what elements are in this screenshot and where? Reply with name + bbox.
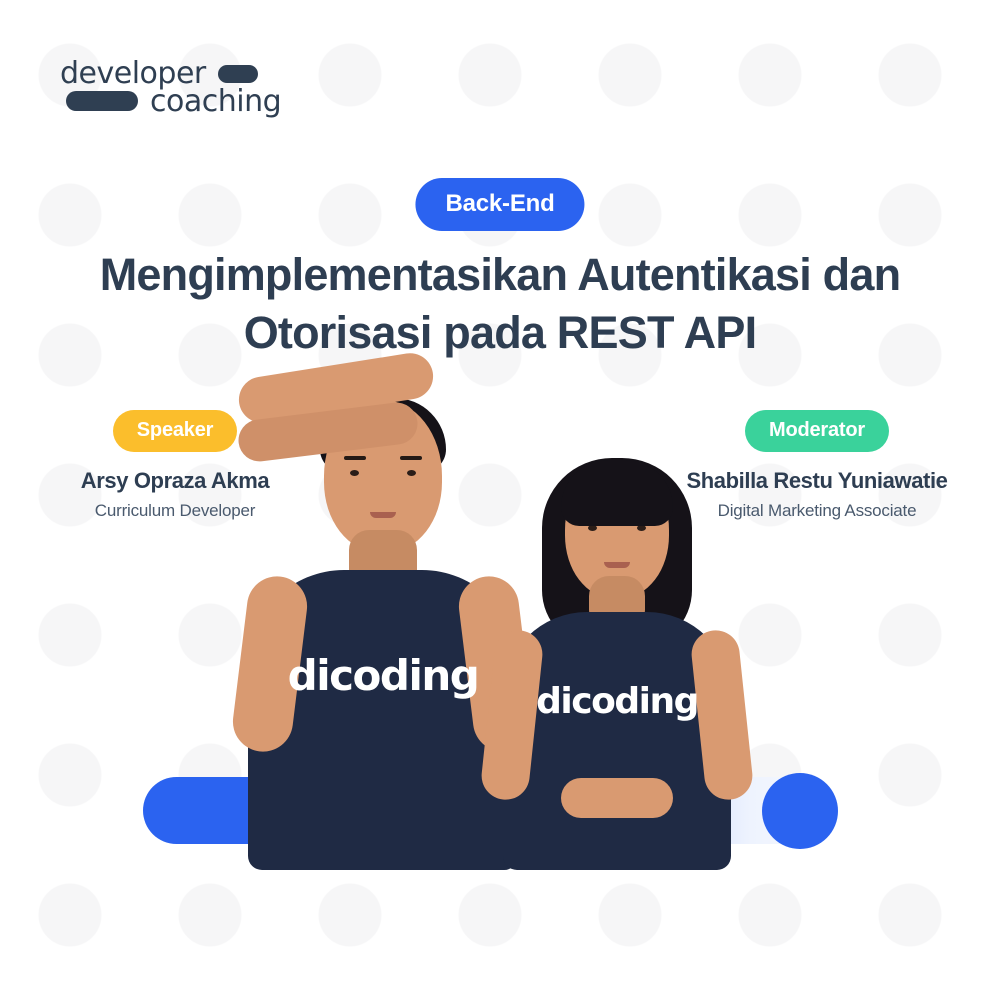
moderator-shirt-logo: dicoding — [536, 681, 698, 722]
speaker-eye-left — [350, 470, 359, 476]
decorative-blue-circle — [762, 773, 838, 849]
speaker-job-title: Curriculum Developer — [30, 501, 320, 521]
session-title: Mengimplementasikan Autentikasi dan Otor… — [50, 246, 950, 361]
moderator-job-title: Digital Marketing Associate — [652, 501, 982, 521]
moderator-info-card: Moderator Shabilla Restu Yuniawatie Digi… — [652, 410, 982, 521]
speaker-name: Arsy Opraza Akma — [30, 468, 320, 494]
speaker-brow-right — [400, 456, 422, 460]
promo-poster: developer coaching Back-End Mengimplemen… — [0, 0, 1000, 1000]
speaker-info-card: Speaker Arsy Opraza Akma Curriculum Deve… — [30, 410, 320, 521]
moderator-hands — [561, 778, 673, 818]
moderator-mouth — [604, 562, 630, 568]
speaker-brow-left — [344, 456, 366, 460]
logo-pill-small-icon — [218, 65, 258, 83]
logo-word-coaching: coaching — [150, 86, 281, 118]
category-badge: Back-End — [415, 178, 584, 231]
logo-pill-large-icon — [66, 91, 138, 111]
speaker-eye-right — [407, 470, 416, 476]
moderator-role-badge: Moderator — [745, 410, 889, 452]
speaker-mouth — [370, 512, 396, 518]
speaker-shirt-logo: dicoding — [288, 651, 479, 700]
moderator-name: Shabilla Restu Yuniawatie — [652, 468, 982, 494]
speaker-role-badge: Speaker — [113, 410, 237, 452]
developer-coaching-logo: developer coaching — [60, 58, 300, 138]
